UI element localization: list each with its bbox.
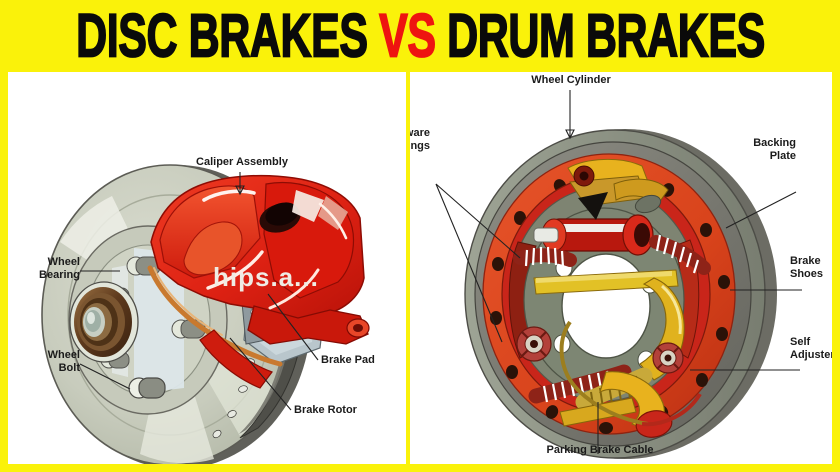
drum-brake-panel: Wheel Cylinder Hardware And Springs Back… [410,72,832,464]
label-wheel-cylinder: Wheel Cylinder [510,74,632,87]
label-caliper-assembly: Caliper Assembly [182,156,302,169]
label-parking-brake-cable: Parking Brake Cable [512,444,688,457]
wheel-bearing-shape [70,282,138,362]
label-backing-plate: Backing Plate [710,137,796,163]
title-banner: DISC BRAKES VS DRUM BRAKES [0,0,840,72]
title-part-1: DISC BRAKES [76,2,379,70]
diagram-panels: hips.a... Wheel Bearing Wheel Bolt Calip… [8,72,832,464]
label-wheel-bolt: Wheel Bolt [8,349,80,375]
label-self-adjuster: Self Adjuster [790,336,832,362]
label-hardware-and-springs: Hardware And Springs [410,127,430,153]
page-title: DISC BRAKES VS DRUM BRAKES [76,6,765,67]
label-brake-rotor: Brake Rotor [294,404,394,417]
poster-root: DISC BRAKES VS DRUM BRAKES [0,0,840,472]
watermark: hips.a... [213,262,319,293]
label-brake-pad: Brake Pad [321,354,406,367]
left-adjuster-shape [517,327,551,361]
wheel-bolt-highlight [129,378,165,398]
title-part-2: DRUM BRAKES [435,2,764,70]
drum-brake-illustration [410,72,832,464]
label-wheel-bearing: Wheel Bearing [8,256,80,282]
label-brake-shoes: Brake Shoes [790,255,832,281]
disc-brake-panel: hips.a... Wheel Bearing Wheel Bolt Calip… [8,72,406,464]
title-vs: VS [379,2,436,70]
